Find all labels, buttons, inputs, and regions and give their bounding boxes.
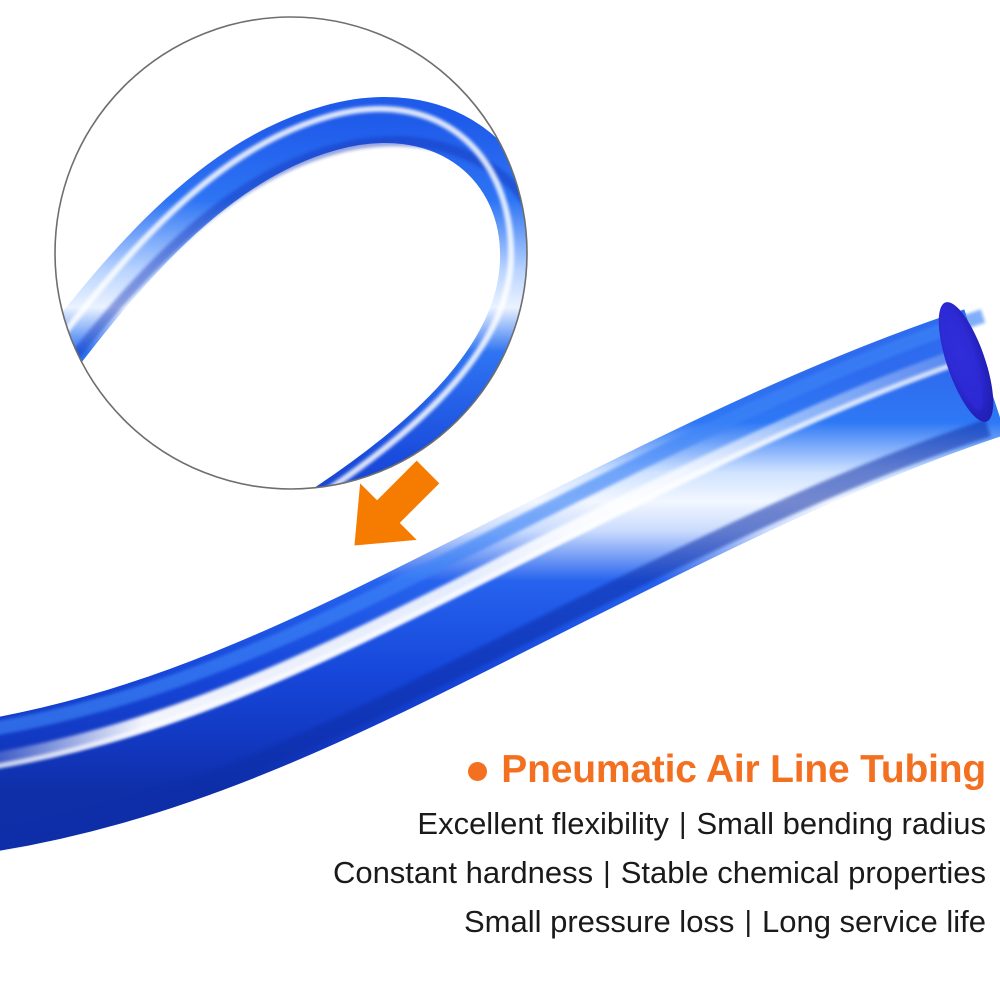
feature-separator: | xyxy=(669,802,697,846)
feature-1-right: Small bending radius xyxy=(696,806,986,841)
feature-line-2: Constant hardness|Stable chemical proper… xyxy=(300,851,986,896)
feature-3-left: Small pressure loss xyxy=(464,904,734,939)
bullet-dot-icon xyxy=(468,762,487,781)
feature-2-left: Constant hardness xyxy=(333,855,593,890)
headline-row: Pneumatic Air Line Tubing xyxy=(300,742,986,798)
feature-separator: | xyxy=(734,900,762,944)
feature-line-3: Small pressure loss|Long service life xyxy=(300,900,986,945)
feature-2-right: Stable chemical properties xyxy=(621,855,986,890)
feature-1-left: Excellent flexibility xyxy=(417,806,669,841)
feature-3-right: Long service life xyxy=(762,904,986,939)
feature-line-1: Excellent flexibility|Small bending radi… xyxy=(300,802,986,847)
feature-separator: | xyxy=(593,851,621,895)
feature-callout: Pneumatic Air Line Tubing Excellent flex… xyxy=(300,742,986,945)
page-title: Pneumatic Air Line Tubing xyxy=(501,748,986,792)
magnifier-group xyxy=(0,17,544,582)
product-image-canvas: Pneumatic Air Line Tubing Excellent flex… xyxy=(0,0,1000,1000)
